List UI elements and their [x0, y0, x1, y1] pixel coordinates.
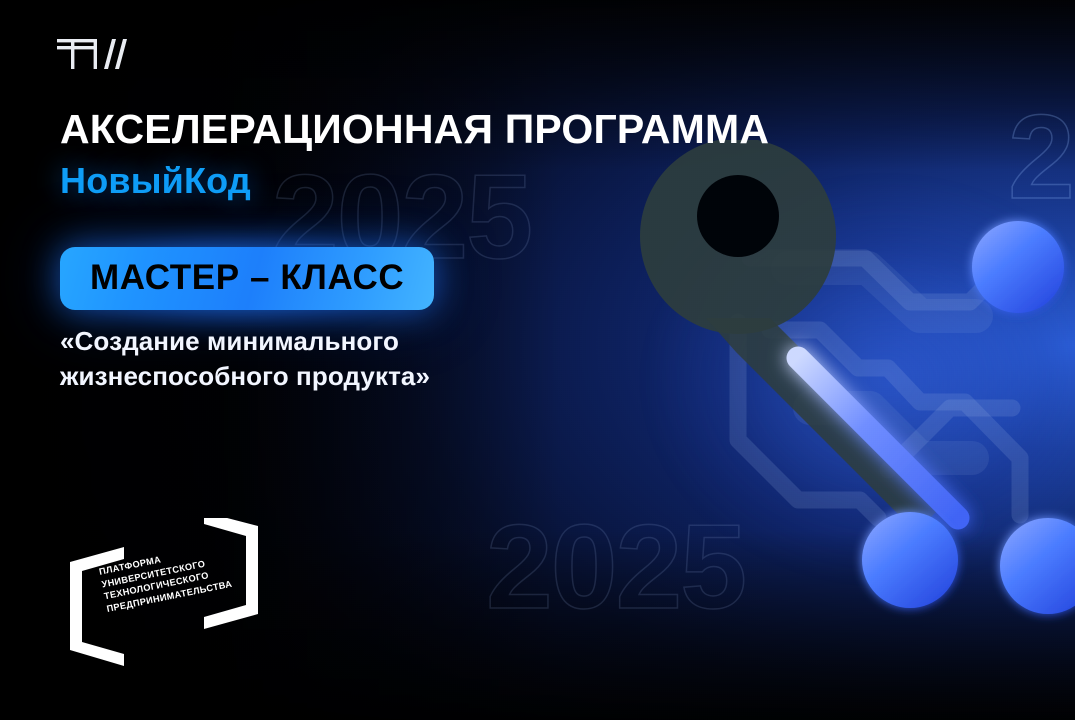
- masterclass-badge[interactable]: МАСТЕР – КЛАСС: [60, 247, 434, 310]
- brand-logo-icon: [57, 33, 137, 75]
- topic-line-1: «Создание минимального: [60, 324, 580, 359]
- headline-block: АКСЕЛЕРАЦИОННАЯ ПРОГРАММА НовыйКод: [60, 108, 820, 201]
- topic-line-2: жизнеспособного продукта»: [60, 359, 580, 394]
- platform-logo[interactable]: ПЛАТФОРМА УНИВЕРСИТЕТСКОГО ТЕХНОЛОГИЧЕСК…: [62, 518, 282, 673]
- poster-canvas: 2025 2025 2025: [0, 0, 1075, 720]
- masterclass-topic: «Создание минимального жизнеспособного п…: [60, 324, 580, 393]
- program-name: НовыйКод: [60, 161, 820, 201]
- page-title: АКСЕЛЕРАЦИОННАЯ ПРОГРАММА: [60, 108, 820, 151]
- masterclass-badge-wrap: МАСТЕР – КЛАСС: [60, 247, 434, 310]
- brand-logo[interactable]: [57, 33, 137, 75]
